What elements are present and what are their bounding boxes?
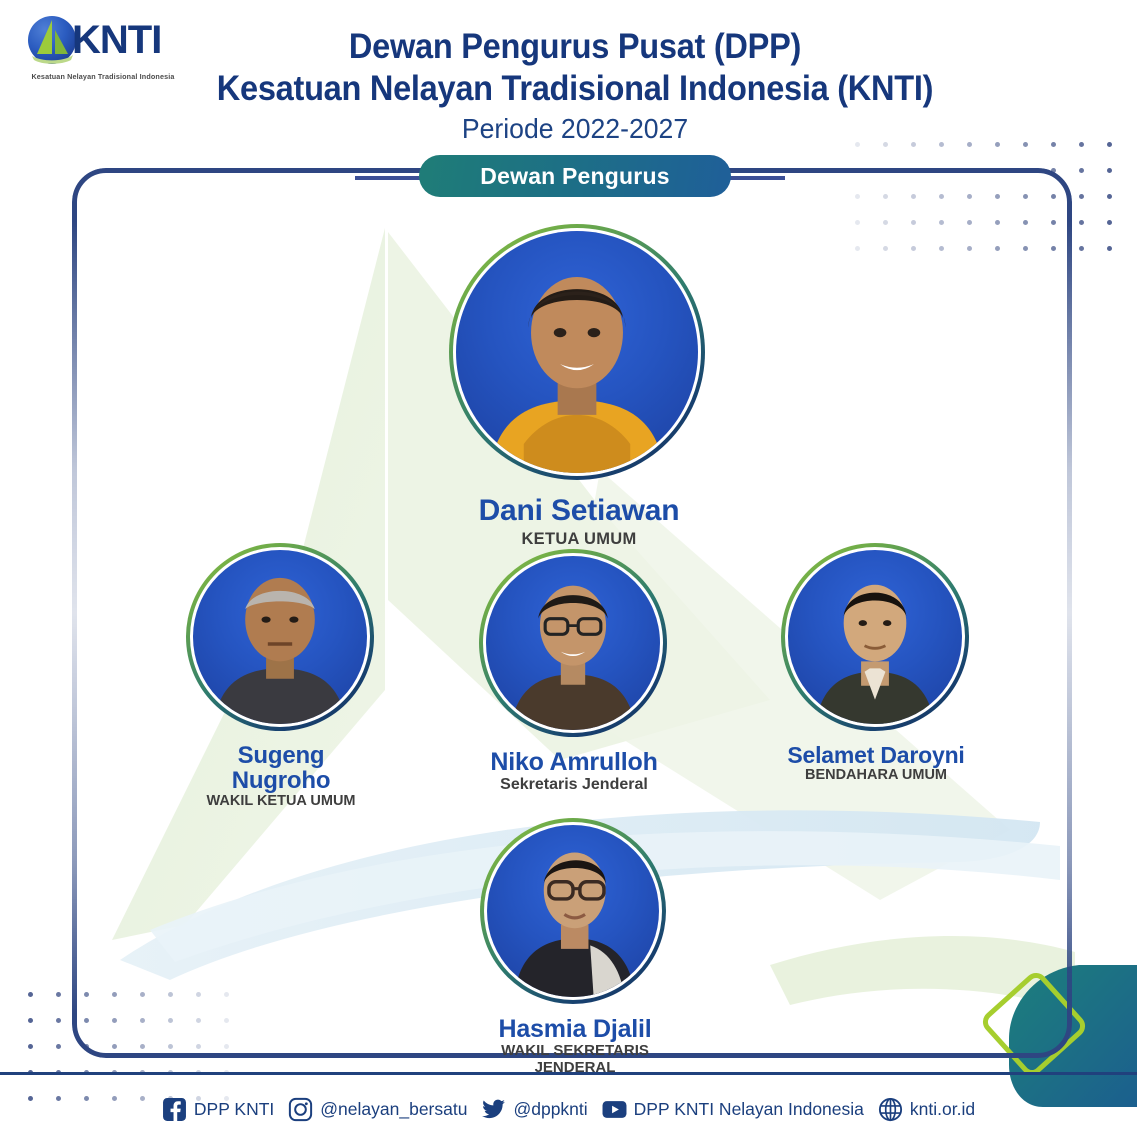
instagram-icon[interactable]: [288, 1097, 313, 1122]
person-name: Hasmia Djalil: [480, 1016, 670, 1042]
header: KNTI Kesatuan Nelayan Tradisional Indone…: [0, 0, 1137, 150]
globe-icon[interactable]: [878, 1097, 903, 1122]
page-title: Dewan Pengurus Pusat (DPP) Kesatuan Nela…: [180, 26, 970, 148]
social-twitter[interactable]: @dppknti: [481, 1097, 587, 1122]
social-website[interactable]: knti.or.id: [878, 1097, 975, 1122]
person-card-ketua-umum: Dani Setiawan KETUA UMUM: [449, 224, 709, 548]
title-line-2: Kesatuan Nelayan Tradisional Indonesia (…: [208, 67, 943, 110]
social-youtube[interactable]: DPP KNTI Nelayan Indonesia: [602, 1097, 864, 1122]
avatar-ring: [449, 224, 705, 480]
footer-divider: [0, 1072, 1137, 1075]
person-role: WAKIL KETUA UMUM: [186, 794, 376, 810]
person-role: BENDAHARA UMUM: [781, 768, 971, 784]
knti-logo: KNTI Kesatuan Nelayan Tradisional Indone…: [24, 14, 174, 90]
person-role: Sekretaris Jenderal: [479, 776, 669, 794]
social-label: knti.or.id: [910, 1099, 975, 1120]
person-card-bendahara-umum: Selamet Daroyni BENDAHARA UMUM: [781, 543, 971, 784]
person-name: Niko Amrulloh: [479, 749, 669, 775]
avatar: [486, 556, 660, 730]
title-line-1: Dewan Pengurus Pusat (DPP): [208, 26, 943, 67]
portrait-dani-setiawan: [456, 231, 698, 473]
person-card-wakil-ketua-umum: Sugeng Nugroho WAKIL KETUA UMUM: [186, 543, 376, 810]
avatar-ring: [781, 543, 969, 731]
avatar: [456, 231, 698, 473]
avatar-ring: [479, 549, 667, 737]
footer-social-bar: DPP KNTI @nelayan_bersatu @dppknti DPP K…: [0, 1086, 1137, 1132]
portrait-hasmia-djalil: [487, 825, 659, 997]
social-label: @nelayan_bersatu: [320, 1099, 467, 1120]
logo-tagline: Kesatuan Nelayan Tradisional Indonesia: [28, 72, 178, 81]
youtube-icon[interactable]: [602, 1097, 627, 1122]
avatar: [487, 825, 659, 997]
person-card-sekretaris-jenderal: Niko Amrulloh Sekretaris Jenderal: [479, 549, 669, 794]
person-name: Sugeng Nugroho: [186, 743, 376, 793]
portrait-sugeng-nugroho: [193, 550, 367, 724]
person-name: Selamet Daroyni: [781, 743, 971, 767]
avatar: [193, 550, 367, 724]
person-role: KETUA UMUM: [449, 530, 709, 548]
avatar-ring: [480, 818, 666, 1004]
social-instagram[interactable]: @nelayan_bersatu: [288, 1097, 467, 1122]
avatar-ring: [186, 543, 374, 731]
person-name: Dani Setiawan: [449, 495, 709, 527]
portrait-niko-amrulloh: [486, 556, 660, 730]
social-label: @dppknti: [513, 1099, 587, 1120]
title-period: Periode 2022-2027: [200, 110, 951, 148]
avatar: [788, 550, 962, 724]
logo-wordmark: KNTI: [72, 18, 161, 63]
social-facebook[interactable]: DPP KNTI: [162, 1097, 274, 1122]
section-badge-dewan-pengurus: Dewan Pengurus: [419, 155, 731, 197]
portrait-selamet-daroyni: [788, 550, 962, 724]
facebook-icon[interactable]: [162, 1097, 187, 1122]
social-label: DPP KNTI: [194, 1099, 274, 1120]
social-label: DPP KNTI Nelayan Indonesia: [634, 1099, 864, 1120]
person-card-wakil-sekretaris-jenderal: Hasmia Djalil WAKIL SEKRETARIS JENDERAL: [480, 818, 670, 1076]
twitter-icon[interactable]: [481, 1097, 506, 1122]
